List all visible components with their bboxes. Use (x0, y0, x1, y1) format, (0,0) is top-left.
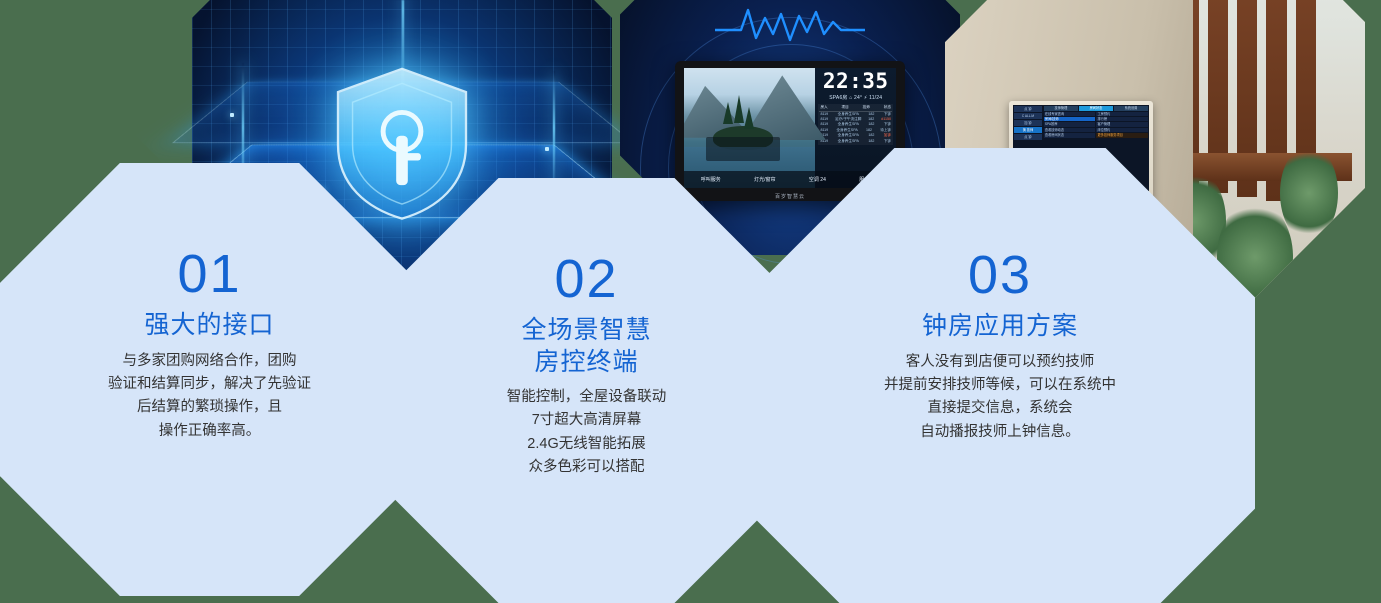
tablet-screen: 22:35 SPA6房 ⌂ 24° ⚡ 11/24 房入 项目 技师 状态 81… (684, 68, 896, 188)
pulse-waveform (715, 0, 865, 48)
menu-item[interactable]: 工房预约 (1096, 112, 1148, 116)
table-cell: 全身养生SPA (838, 139, 859, 144)
tablet-clock: 22:35 (818, 71, 893, 92)
panel-title-03: 钟房应用方案 (745, 311, 1255, 343)
th-tech: 技师 (863, 105, 870, 110)
menu-item[interactable]: 床位预约 (1096, 128, 1148, 132)
shield-lock-icon (327, 63, 477, 223)
tablet-wallpaper-lake (684, 68, 815, 188)
th-item: 项目 (842, 105, 849, 110)
table-body: 8119全身养生SPA182下钟8119足疗/子午流注脚182#11508119… (819, 112, 892, 144)
menu-item[interactable]: 排行榜 (1096, 117, 1148, 121)
menu-item-highlight[interactable]: 更多技师服务项目 (1096, 133, 1148, 137)
table-cell: 下钟 (884, 139, 891, 144)
player-widget (706, 137, 780, 161)
panel-number-03: 03 (745, 248, 1255, 302)
promo-banner: CSI280 22:35 SPA6房 ⌂ 24° ⚡ (0, 0, 1381, 603)
panel-number-02: 02 (374, 252, 799, 306)
table-row: 8119全身养生SPA182下钟 (819, 139, 892, 144)
tablet-service-table: 房入 项目 技师 状态 8119全身养生SPA182下钟8119足疗/子午流注脚… (818, 104, 893, 145)
panel-number-01: 01 (0, 247, 426, 301)
tab-btn-light[interactable]: 灯光/窗帘 (754, 176, 775, 183)
menu-column-right[interactable]: 工房预约 排行榜 客户管理 床位预约 更多技师服务项目 (1096, 112, 1148, 139)
th-room: 房入 (820, 105, 827, 110)
plant (1280, 145, 1338, 241)
tab-settings[interactable]: 系统设置 (1114, 106, 1148, 111)
tablet-status: SPA6房 ⌂ 24° ⚡ 11/24 (818, 94, 893, 101)
tab-btn-ac[interactable]: 空调 24 (809, 176, 826, 183)
tab-room-status[interactable]: 房间状态 (1079, 106, 1113, 111)
table-cell: 182 (868, 139, 874, 144)
menu-item[interactable]: 客户管理 (1096, 122, 1148, 126)
tab-btn-call[interactable]: 呼叫服务 (701, 176, 721, 183)
panel-desc-03: 客人没有到店便可以预约技师 并提前安排技师等候，可以在系统中 直接提交信息，系统… (745, 351, 1255, 445)
